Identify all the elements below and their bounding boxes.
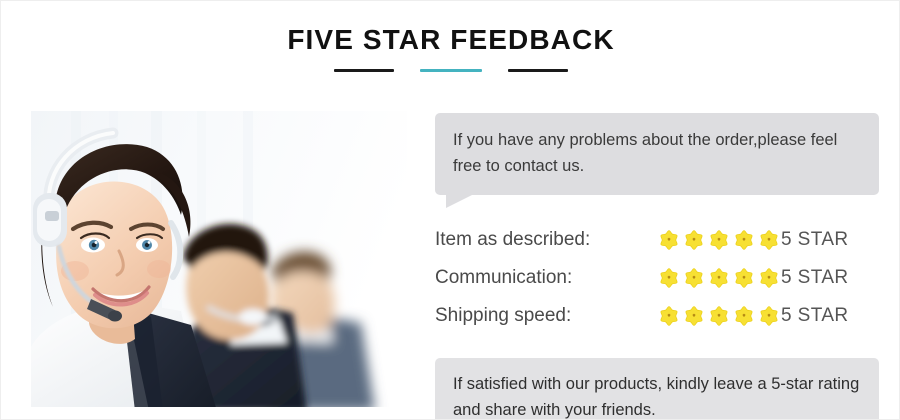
star-icon [732, 228, 756, 252]
rating-label: Item as described: [435, 228, 657, 252]
star-icon [732, 304, 756, 328]
title-rule-right [508, 69, 568, 72]
star-icon [757, 266, 781, 290]
star-rating-communication [657, 266, 781, 290]
call-center-photo [31, 111, 407, 407]
star-icon [682, 304, 706, 328]
rating-value: 5 STAR [781, 266, 849, 290]
star-icon [757, 228, 781, 252]
note-message: If satisfied with our products, kindly l… [453, 371, 861, 420]
contact-message: If you have any problems about the order… [453, 127, 861, 179]
star-icon [707, 304, 731, 328]
rating-request-note: If satisfied with our products, kindly l… [435, 358, 879, 420]
page-title: FIVE STAR FEEDBACK [1, 23, 900, 57]
rating-value: 5 STAR [781, 228, 849, 252]
star-icon [657, 228, 681, 252]
speech-bubble-tail [446, 194, 474, 208]
star-rating-item-as-described [657, 228, 781, 252]
star-rating-shipping-speed [657, 304, 781, 328]
feedback-content-column: If you have any problems about the order… [435, 113, 879, 420]
star-icon [657, 266, 681, 290]
star-icon [707, 228, 731, 252]
title-rule-row [1, 69, 900, 72]
rating-row-communication: Communication: 5 STAR [435, 259, 879, 297]
contact-speech-bubble: If you have any problems about the order… [435, 113, 879, 195]
star-icon [732, 266, 756, 290]
star-icon [657, 304, 681, 328]
title-block: FIVE STAR FEEDBACK [1, 23, 900, 72]
five-star-feedback-banner: FIVE STAR FEEDBACK [0, 0, 900, 420]
rating-row-shipping-speed: Shipping speed: 5 STAR [435, 297, 879, 335]
star-icon [682, 266, 706, 290]
ratings-list: Item as described: 5 STAR Communication: [435, 221, 879, 335]
star-icon [707, 266, 731, 290]
title-rule-left [334, 69, 394, 72]
rating-row-item-as-described: Item as described: 5 STAR [435, 221, 879, 259]
rating-label: Communication: [435, 266, 657, 290]
star-icon [757, 304, 781, 328]
rating-value: 5 STAR [781, 304, 849, 328]
title-rule-accent [420, 69, 482, 72]
star-icon [682, 228, 706, 252]
rating-label: Shipping speed: [435, 304, 657, 328]
